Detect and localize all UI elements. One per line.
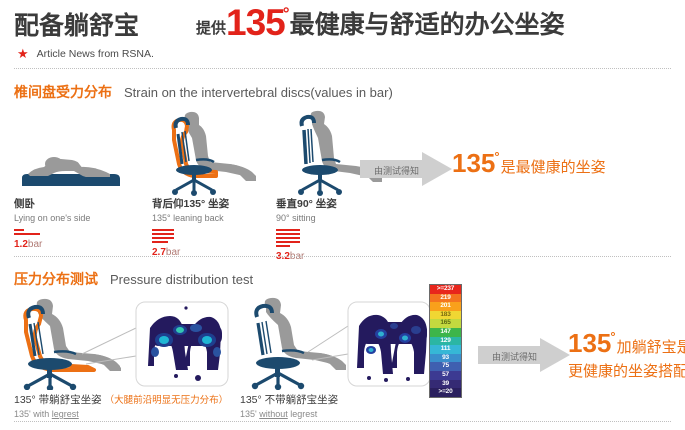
- chair-without-legrest-icon: [252, 298, 346, 390]
- pressure-panel-with-legrest: [8, 294, 233, 390]
- legend-row: 39: [430, 380, 461, 389]
- conclusion2-degree-icon: °: [610, 329, 615, 344]
- pose3-label-en: 90° sitting: [276, 213, 406, 223]
- legend-row: 57: [430, 371, 461, 380]
- conclusion2-number: 135: [568, 330, 611, 356]
- pose1-label-cn: 侧卧: [14, 196, 144, 211]
- pressure-panel-without-legrest: [238, 294, 433, 390]
- section-heading-strain: 椎间盘受力分布 Strain on the intervertebral dis…: [14, 82, 393, 102]
- header-tail: 最健康与舒适的办公坐姿: [290, 5, 565, 41]
- page-header: 配备躺舒宝 提供 135 ° 最健康与舒适的办公坐姿 ★ Article New…: [0, 0, 685, 62]
- header-title-right: 提供 135 ° 最健康与舒适的办公坐姿: [196, 2, 565, 41]
- legend-row: 111: [430, 345, 461, 354]
- pose-item-lying: 侧卧 Lying on one's side 1.2bar: [14, 108, 144, 250]
- caption2-en-underlined: without: [259, 409, 288, 419]
- caption-without-legrest: 135° 不带躺舒宝坐姿 135' without legrest: [240, 392, 338, 419]
- chair-with-legrest-icon: [24, 299, 121, 390]
- pose3-label-cn: 垂直90° 坐姿: [276, 196, 406, 211]
- conclusion-text-1: 135 ° 是最健康的坐姿: [452, 150, 606, 177]
- pressure-scale-legend: >=237 219 201 183 165 147 129 111 93 75 …: [429, 284, 462, 398]
- header-angle-number: 135: [226, 4, 285, 41]
- legend-row: 165: [430, 319, 461, 328]
- caption2-cn: 135° 不带躺舒宝坐姿: [240, 392, 338, 407]
- pose2-label-en: 135° leaning back: [152, 213, 282, 223]
- conclusion1-number: 135: [452, 150, 495, 176]
- caption1-cn-note: （大腿前沿明显无压力分布）: [105, 395, 229, 406]
- byline-text: Article News from RSNA.: [37, 48, 154, 60]
- pose-item-leaning-135: 背后仰135° 坐姿 135° leaning back 2.7bar: [152, 108, 282, 258]
- pose1-value-number: 1.2: [14, 239, 28, 250]
- legend-row: 147: [430, 328, 461, 337]
- legend-row: >=20: [430, 388, 461, 397]
- caption1-cn-main: 135° 带躺舒宝坐姿: [14, 394, 102, 406]
- divider-middle: [14, 256, 671, 257]
- callout-line: [308, 326, 348, 352]
- pose2-label-cn: 背后仰135° 坐姿: [152, 196, 282, 211]
- section2-heading-en: Pressure distribution test: [110, 272, 253, 287]
- conclusion-arrow-1: 由测试得知: [360, 152, 452, 186]
- caption2-cn-main: 135° 不带躺舒宝坐姿: [240, 394, 338, 406]
- arrow1-label: 由测试得知: [368, 164, 419, 177]
- legend-row: 183: [430, 311, 461, 320]
- divider-bottom: [14, 421, 671, 422]
- legend-row: 129: [430, 337, 461, 346]
- degree-symbol-icon: °: [283, 4, 290, 24]
- legend-row: 75: [430, 362, 461, 371]
- pose1-label-en: Lying on one's side: [14, 213, 144, 223]
- conclusion-arrow-2: 由测试得知: [478, 338, 570, 372]
- legend-row: 219: [430, 294, 461, 303]
- byline: ★ Article News from RSNA.: [17, 47, 154, 60]
- divider-top: [14, 68, 671, 69]
- legend-row: >=237: [430, 285, 461, 294]
- caption2-en-pre: 135': [240, 409, 259, 419]
- section2-heading-cn: 压力分布测试: [14, 269, 98, 289]
- legend-row: 201: [430, 302, 461, 311]
- conclusion2-line2: 更健康的坐姿搭配: [568, 360, 685, 381]
- conclusion2-line1: 加躺舒宝是: [617, 336, 685, 357]
- caption1-en-pre: 135' with: [14, 409, 52, 419]
- caption1-cn: 135° 带躺舒宝坐姿 （大腿前沿明显无压力分布）: [14, 392, 228, 407]
- caption-with-legrest: 135° 带躺舒宝坐姿 （大腿前沿明显无压力分布） 135' with legr…: [14, 392, 228, 419]
- lying-person-icon: [14, 108, 144, 196]
- pose2-bar-indicator: [152, 229, 282, 243]
- conclusion1-text: 是最健康的坐姿: [501, 156, 606, 177]
- pose3-bar-indicator: [276, 229, 406, 247]
- legend-row: 93: [430, 354, 461, 363]
- header-title-left: 配备躺舒宝: [14, 6, 139, 42]
- chair-leaning-135-icon: [152, 108, 282, 196]
- star-icon: ★: [17, 47, 29, 60]
- conclusion1-degree-icon: °: [494, 149, 499, 164]
- pose1-bar-indicator: [14, 229, 144, 235]
- caption2-en-post: legrest: [288, 409, 318, 419]
- caption1-en: 135' with legrest: [14, 409, 228, 419]
- conclusion-text-2: 135 ° 加躺舒宝是 更健康的坐姿搭配: [568, 330, 685, 381]
- caption2-en: 135' without legrest: [240, 409, 338, 419]
- header-prefix: 提供: [196, 17, 226, 38]
- callout-line: [82, 328, 136, 354]
- section1-heading-en: Strain on the intervertebral discs(value…: [124, 85, 393, 100]
- arrow2-label: 由测试得知: [486, 350, 537, 363]
- section-heading-pressure: 压力分布测试 Pressure distribution test: [14, 269, 253, 289]
- pose1-value: 1.2bar: [14, 239, 144, 250]
- caption1-en-underlined: legrest: [52, 409, 79, 419]
- section1-heading-cn: 椎间盘受力分布: [14, 82, 112, 102]
- pose1-value-unit: bar: [28, 239, 42, 250]
